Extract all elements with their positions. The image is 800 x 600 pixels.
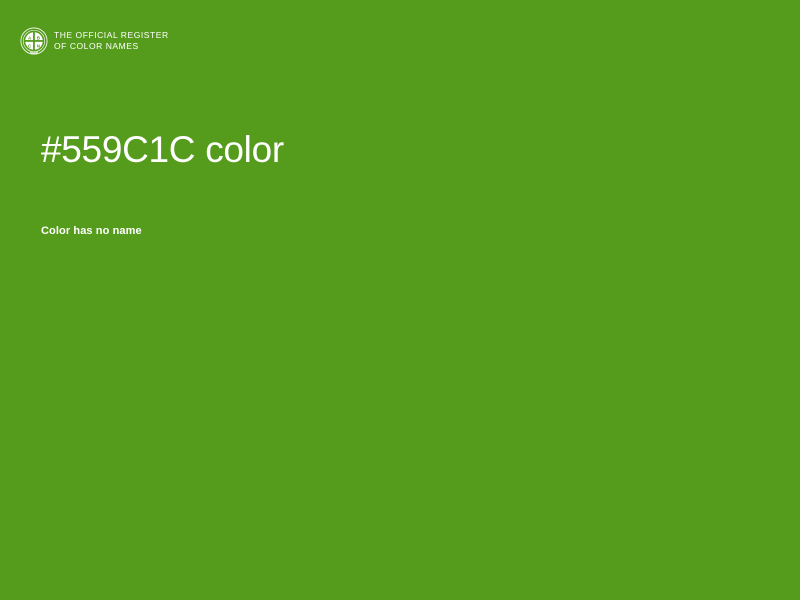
page-title: #559C1C color: [41, 128, 741, 172]
color-page: A B C N THE OFFICIAL REGISTER OF COLOR N…: [0, 0, 800, 600]
color-name-status: Color has no name: [41, 172, 741, 239]
svg-text:N: N: [37, 44, 40, 49]
color-info: #559C1C color Color has no name: [41, 128, 741, 239]
register-seal-icon: A B C N: [20, 27, 48, 55]
brand-wordmark: THE OFFICIAL REGISTER OF COLOR NAMES: [54, 30, 169, 52]
brand-line-1: THE OFFICIAL REGISTER: [54, 30, 169, 41]
brand-line-2: OF COLOR NAMES: [54, 41, 169, 52]
brand-header[interactable]: A B C N THE OFFICIAL REGISTER OF COLOR N…: [20, 27, 169, 55]
